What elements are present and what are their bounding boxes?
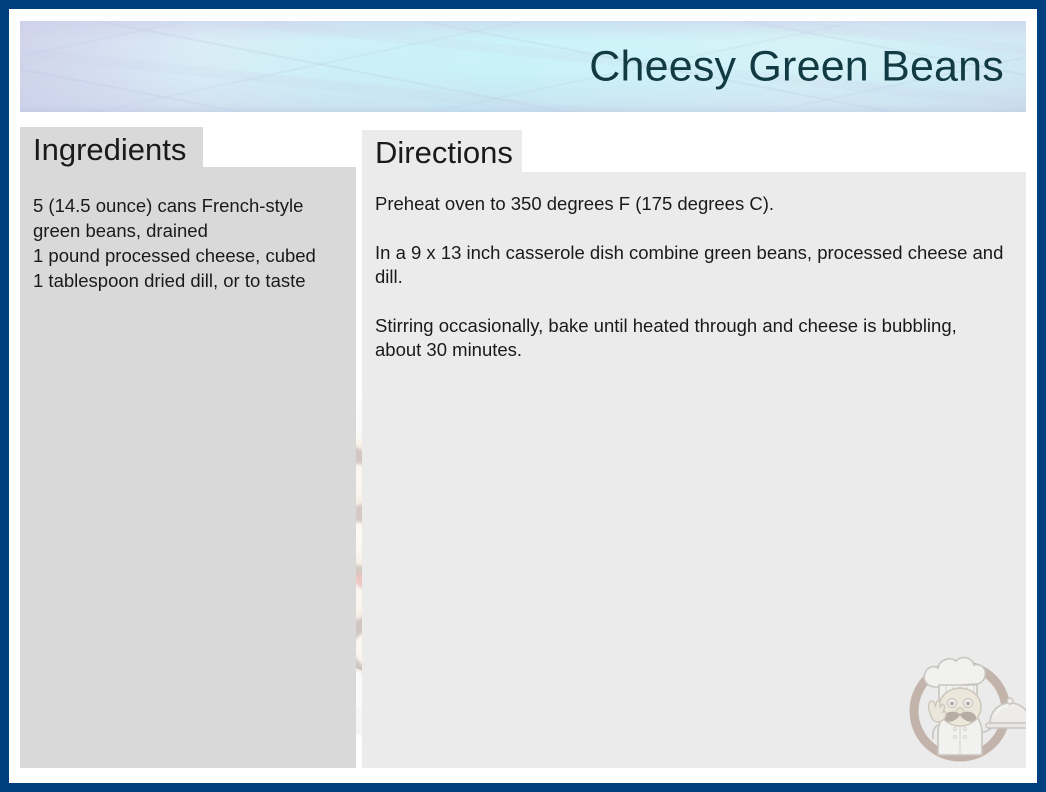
card-border-top (0, 0, 1046, 9)
ingredients-list: 5 (14.5 ounce) cans French-style green b… (33, 193, 348, 293)
page-title: Cheesy Green Beans (589, 43, 1004, 90)
card-border-left (0, 0, 9, 792)
list-item: Stirring occasionally, bake until heated… (375, 314, 1008, 362)
ingredients-heading: Ingredients (33, 131, 186, 168)
list-item: 1 pound processed cheese, cubed (33, 243, 348, 268)
card-border-right (1037, 0, 1046, 792)
header-banner: Cheesy Green Beans (20, 21, 1026, 112)
directions-heading-notch (522, 130, 1026, 172)
list-item: In a 9 x 13 inch casserole dish combine … (375, 241, 1008, 289)
directions-heading: Directions (375, 134, 513, 171)
list-item: 5 (14.5 ounce) cans French-style green b… (33, 193, 348, 243)
recipe-card: Cheesy Green Beans Ingredients 5 (14.5 o… (0, 0, 1046, 792)
directions-panel: Directions Preheat oven to 350 degrees F… (362, 130, 1026, 768)
list-item: 1 tablespoon dried dill, or to taste (33, 268, 348, 293)
ingredients-panel: Ingredients 5 (14.5 ounce) cans French-s… (20, 127, 356, 768)
directions-steps: Preheat oven to 350 degrees F (175 degre… (375, 192, 1008, 362)
list-item: Preheat oven to 350 degrees F (175 degre… (375, 192, 1008, 216)
card-border-bottom (0, 783, 1046, 792)
ingredients-heading-notch (203, 127, 356, 167)
